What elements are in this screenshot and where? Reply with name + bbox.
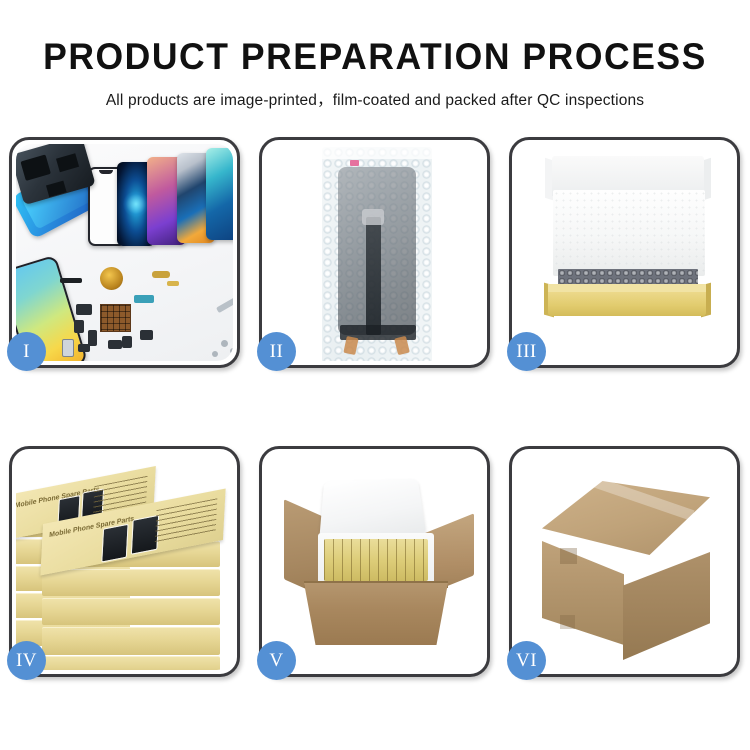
step-panel-3: III — [509, 137, 740, 368]
lcd-copper-tab — [343, 336, 358, 355]
spare-part — [62, 339, 74, 357]
speaker-coil-part — [100, 267, 123, 290]
step-image-product-range — [16, 144, 233, 361]
carton-seam — [560, 548, 577, 564]
step-panel-4: Mobile Phone Spare Parts Mobile Phone Sp… — [9, 446, 240, 677]
page-subtitle: All products are image-printed，film-coat… — [0, 78, 750, 110]
step-badge-6: VI — [507, 641, 546, 680]
step-image-inner-box — [516, 144, 733, 361]
yellow-tray-front — [548, 292, 706, 316]
step-image-sealed-carton — [516, 453, 733, 670]
spare-part — [167, 281, 179, 286]
lcd-pink-sticker — [350, 160, 359, 166]
spare-part — [216, 297, 233, 313]
step-badge-5: V — [257, 641, 296, 680]
process-steps-grid: I II — [9, 137, 741, 677]
box-lid-screen-photo — [101, 524, 128, 563]
box-side — [42, 598, 220, 625]
spare-part — [152, 271, 170, 278]
spare-part — [134, 295, 154, 303]
step-panel-2: II — [259, 137, 490, 368]
spare-part — [60, 278, 82, 283]
bubble-wrap-bag — [322, 147, 432, 361]
spare-part — [76, 304, 92, 315]
page-title: PRODUCT PREPARATION PROCESS — [15, 0, 735, 78]
lcd-connector — [362, 209, 384, 225]
spare-part — [122, 336, 132, 348]
step-panel-5: V — [259, 446, 490, 677]
box-side — [42, 569, 220, 596]
lcd-flex-cable — [366, 217, 381, 335]
foam-lid — [319, 479, 426, 540]
spare-part — [108, 340, 122, 349]
step-badge-2: II — [257, 332, 296, 371]
page-header: PRODUCT PREPARATION PROCESS All products… — [0, 0, 750, 125]
step-badge-4: IV — [7, 641, 46, 680]
step-image-bubble-wrap — [266, 144, 483, 361]
step-image-stacked-boxes: Mobile Phone Spare Parts Mobile Phone Sp… — [16, 453, 233, 670]
carton-body — [304, 583, 448, 645]
screw-part — [221, 340, 228, 347]
step-badge-3: III — [507, 332, 546, 371]
chip-grid-part — [100, 304, 131, 332]
step-panel-6: VI — [509, 446, 740, 677]
spare-part — [74, 320, 84, 333]
box-side — [42, 656, 220, 670]
bag-seal-edge — [322, 147, 432, 159]
step-badge-1: I — [7, 332, 46, 371]
carton-right-face — [623, 552, 710, 660]
screw-part — [230, 348, 233, 354]
carton-seam — [560, 615, 575, 629]
box-side — [42, 627, 220, 655]
phone-teal-wave — [206, 148, 233, 240]
foam-liner — [553, 190, 705, 276]
box-stack: Mobile Phone Spare Parts Mobile Phone Sp… — [16, 453, 233, 670]
step-panel-1: I — [9, 137, 240, 368]
step-image-carton-packing — [266, 453, 483, 670]
spare-part — [140, 330, 153, 340]
spare-part — [78, 344, 90, 352]
box-lid-spec-lines — [155, 498, 218, 543]
screw-part — [212, 351, 218, 357]
carton-left-face — [542, 541, 624, 645]
packed-yellow-boxes — [324, 539, 428, 581]
